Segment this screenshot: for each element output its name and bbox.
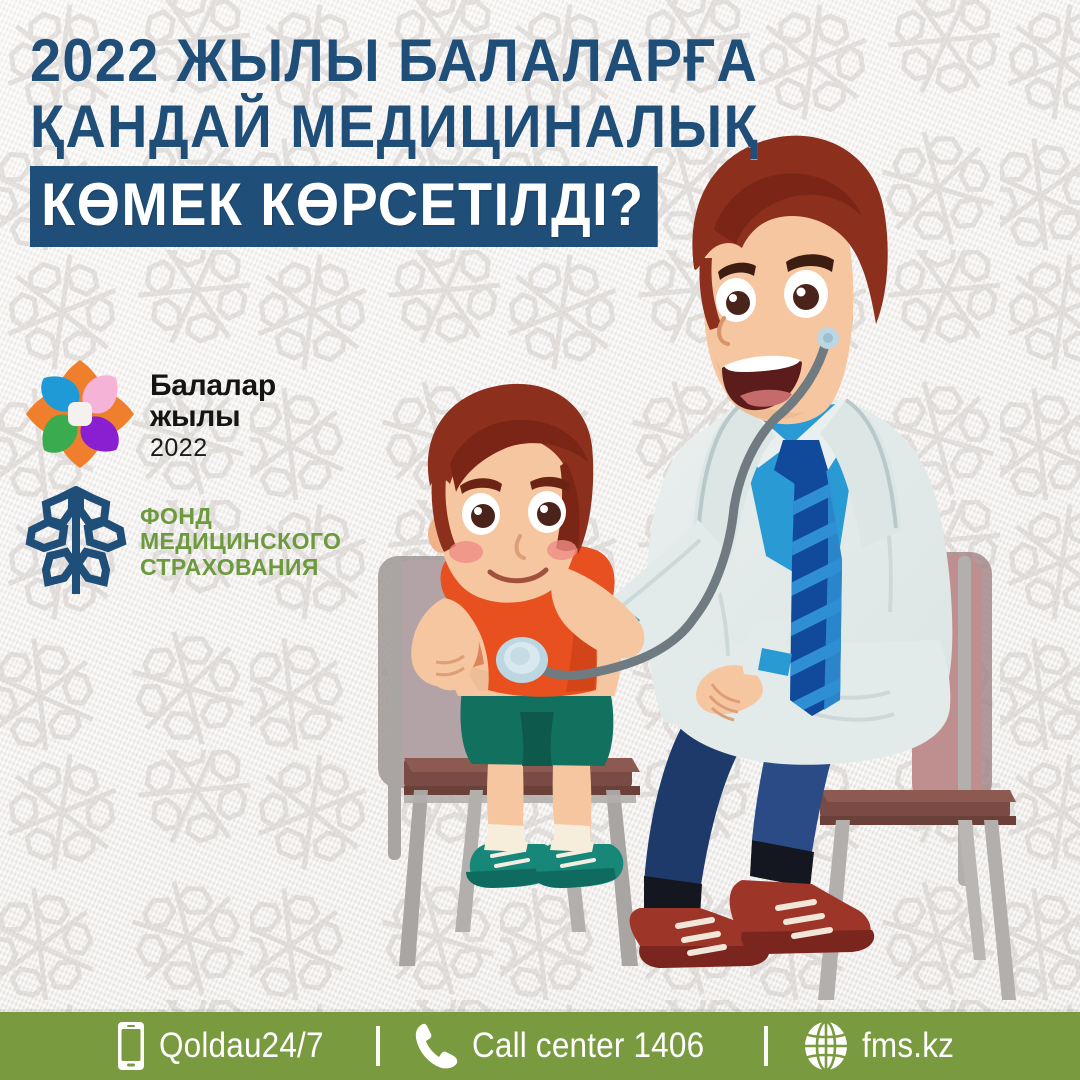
footer-item-qoldau[interactable]: Qoldau24/7 — [115, 1020, 342, 1072]
phone-handset-icon — [414, 1022, 460, 1070]
fms-line-2: МЕДИЦИНСКОГО — [140, 529, 341, 555]
footer-label-website: fms.kz — [862, 1026, 954, 1066]
logo-fms: ФОНД МЕДИЦИНСКОГО СТРАХОВАНИЯ — [24, 486, 341, 598]
stethoscope-chestpiece — [496, 637, 548, 683]
page-title: 2022 ЖЫЛЫ БАЛАЛАРҒА ҚАНДАЙ МЕДИЦИНАЛЫҚ К… — [30, 28, 950, 247]
footer-item-website[interactable]: fms.kz — [802, 1020, 964, 1072]
footer-contact-bar: Qoldau24/7 Call center 1406 fms.kz — [0, 1012, 1080, 1080]
mobile-phone-icon — [115, 1020, 147, 1072]
poster-root: 2022 ЖЫЛЫ БАЛАЛАРҒА ҚАНДАЙ МЕДИЦИНАЛЫҚ К… — [0, 0, 1080, 1080]
fms-line-3: СТРАХОВАНИЯ — [140, 555, 341, 581]
footer-divider — [0, 1009, 1080, 1012]
footer-separator-1 — [376, 1026, 380, 1066]
globe-icon — [802, 1020, 850, 1072]
fms-wordmark: ФОНД МЕДИЦИНСКОГО СТРАХОВАНИЯ — [140, 504, 341, 581]
fms-line-1: ФОНД — [140, 504, 341, 530]
footer-label-qoldau: Qoldau24/7 — [159, 1026, 324, 1066]
balalar-zhyly-flower-icon — [24, 358, 136, 470]
balalar-zhyly-year: 2022 — [150, 433, 276, 463]
footer-label-call-center: Call center 1406 — [472, 1026, 704, 1066]
logo-balalar-zhyly: Балалар жылы 2022 — [24, 358, 276, 470]
balalar-zhyly-wordmark: Балалар жылы 2022 — [150, 358, 276, 463]
title-line-2: ҚАНДАЙ МЕДИЦИНАЛЫҚ — [30, 94, 886, 160]
title-line-3-highlighted: КӨМЕК КӨРСЕТІЛДІ? — [30, 166, 658, 247]
title-line-1: 2022 ЖЫЛЫ БАЛАЛАРҒА — [30, 28, 886, 94]
balalar-zhyly-line-2: жылы — [150, 401, 276, 432]
footer-item-call-center[interactable]: Call center 1406 — [414, 1022, 730, 1070]
footer-separator-2 — [764, 1026, 768, 1066]
fms-snowflake-icon — [24, 486, 128, 598]
balalar-zhyly-line-1: Балалар — [150, 370, 276, 401]
